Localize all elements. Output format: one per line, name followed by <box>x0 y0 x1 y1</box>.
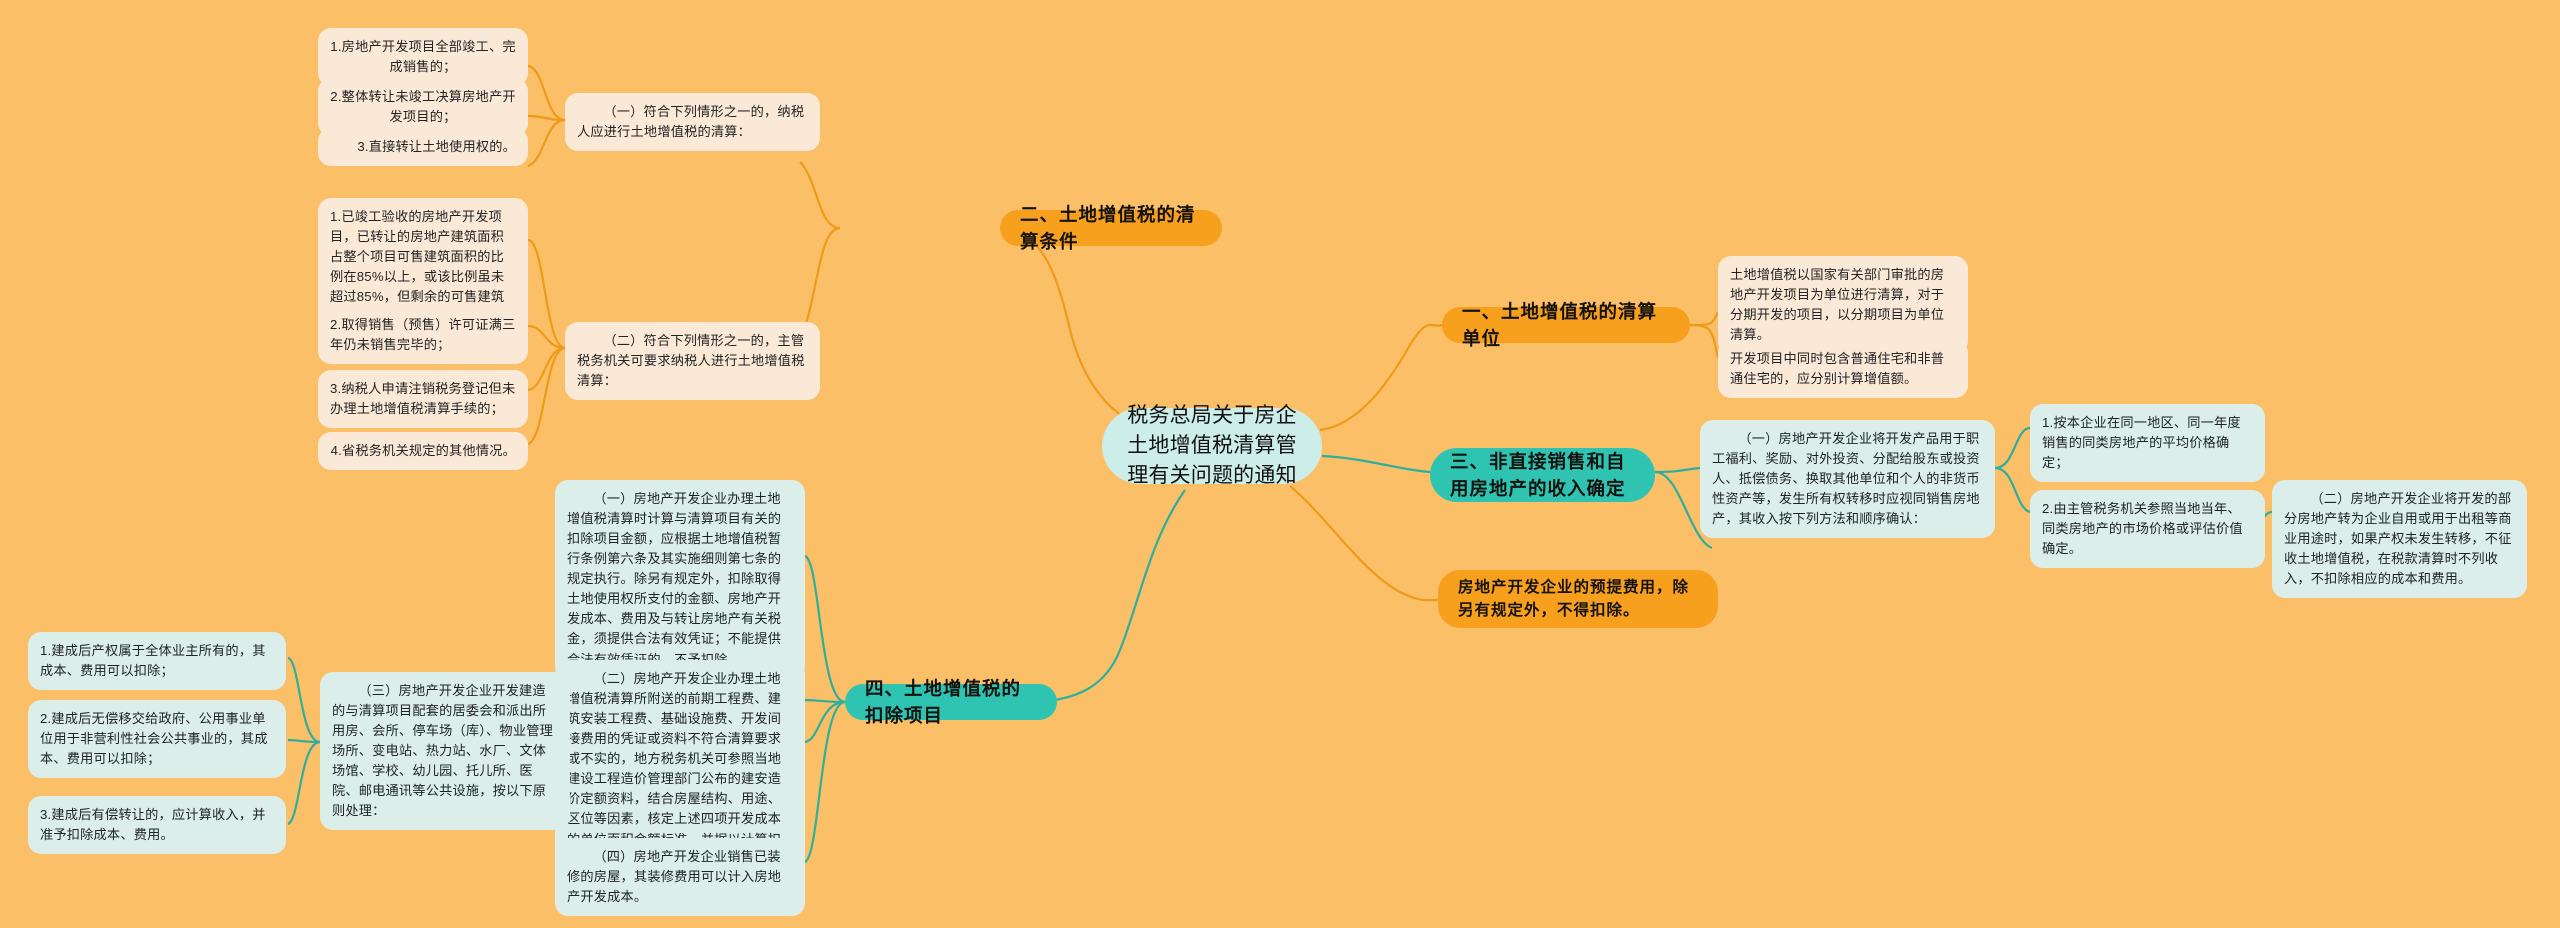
leaf-text: （三）房地产开发企业开发建造的与清算项目配套的居委会和派出所用房、会所、停车场（… <box>332 681 558 821</box>
group-head-b2-1[interactable]: （二）符合下列情形之一的，主管税务机关可要求纳税人进行土地增值税清算： <box>565 322 820 400</box>
leaf-text: 1.房地产开发项目全部竣工、完成销售的； <box>330 37 516 77</box>
leaf-b4-sub-1[interactable]: 2.建成后无偿移交给政府、公用事业单位用于非营利性社会公共事业的，其成本、费用可… <box>28 700 286 778</box>
leaf-text: 1.按本企业在同一地区、同一年度销售的同类房地产的平均价格确定； <box>2042 413 2253 473</box>
leaf-text: （一）符合下列情形之一的，纳税人应进行土地增值税的清算： <box>577 102 808 142</box>
leaf-text: 4.省税务机关规定的其他情况。 <box>331 441 516 461</box>
branch-1-label: 一、土地增值税的清算单位 <box>1462 298 1670 352</box>
leaf-b3-0-0[interactable]: 1.按本企业在同一地区、同一年度销售的同类房地产的平均价格确定； <box>2030 404 2265 482</box>
branch-4-label: 四、土地增值税的扣除项目 <box>865 675 1037 729</box>
leaf-text: 2.取得销售（预售）许可证满三年仍未销售完毕的； <box>330 315 516 355</box>
leaf-text: 开发项目中同时包含普通住宅和非普通住宅的，应分别计算增值额。 <box>1730 349 1956 389</box>
group-head-b2-0[interactable]: （一）符合下列情形之一的，纳税人应进行土地增值税的清算： <box>565 93 820 151</box>
group-head-b3-1[interactable]: （二）房地产开发企业将开发的部分房地产转为企业自用或用于出租等商业用途时，如果产… <box>2272 480 2527 598</box>
leaf-text: 3.建成后有偿转让的，应计算收入，并准予扣除成本、费用。 <box>40 805 274 845</box>
leaf-text: 2.建成后无偿移交给政府、公用事业单位用于非营利性社会公共事业的，其成本、费用可… <box>40 709 274 769</box>
leaf-b2-1-1[interactable]: 2.取得销售（预售）许可证满三年仍未销售完毕的； <box>318 306 528 364</box>
leaf-b3-0-1[interactable]: 2.由主管税务机关参照当地当年、同类房地产的市场价格或评估价值确定。 <box>2030 490 2265 568</box>
branch-3-label: 三、非直接销售和自用房地产的收入确定 <box>1450 448 1635 502</box>
leaf-text: 2.整体转让未竣工决算房地产开发项目的； <box>330 87 516 127</box>
branch-node-1[interactable]: 一、土地增值税的清算单位 <box>1442 307 1690 343</box>
leaf-b2-1-3[interactable]: 4.省税务机关规定的其他情况。 <box>318 432 528 470</box>
leaf-b4-0[interactable]: （一）房地产开发企业办理土地增值税清算时计算与清算项目有关的扣除项目金额，应根据… <box>555 480 805 679</box>
leaf-text: （二）符合下列情形之一的，主管税务机关可要求纳税人进行土地增值税清算： <box>577 331 808 391</box>
root-label: 税务总局关于房企土地增值税清算管理有关问题的通知 <box>1120 401 1304 490</box>
root-node[interactable]: 税务总局关于房企土地增值税清算管理有关问题的通知 <box>1102 408 1322 484</box>
leaf-text: 2.由主管税务机关参照当地当年、同类房地产的市场价格或评估价值确定。 <box>2042 499 2253 559</box>
branch-node-3[interactable]: 三、非直接销售和自用房地产的收入确定 <box>1430 448 1655 502</box>
leaf-text: （一）房地产开发企业办理土地增值税清算时计算与清算项目有关的扣除项目金额，应根据… <box>567 489 793 670</box>
leaf-b4-sub-2[interactable]: 3.建成后有偿转让的，应计算收入，并准予扣除成本、费用。 <box>28 796 286 854</box>
leaf-text: （一）房地产开发企业将开发产品用于职工福利、奖励、对外投资、分配给股东或投资人、… <box>1712 429 1983 529</box>
leaf-b4-sub-0[interactable]: 1.建成后产权属于全体业主所有的，其成本、费用可以扣除； <box>28 632 286 690</box>
mindmap-canvas: 税务总局关于房企土地增值税清算管理有关问题的通知 一、土地增值税的清算单位 土地… <box>0 0 2560 928</box>
leaf-text: （四）房地产开发企业销售已装修的房屋，其装修费用可以计入房地产开发成本。 <box>567 847 793 907</box>
leaf-text: 3.纳税人申请注销税务登记但未办理土地增值税清算手续的； <box>330 379 516 419</box>
leaf-text: 1.建成后产权属于全体业主所有的，其成本、费用可以扣除； <box>40 641 274 681</box>
branch-node-4[interactable]: 四、土地增值税的扣除项目 <box>845 684 1057 720</box>
leaf-text: 土地增值税以国家有关部门审批的房地产开发项目为单位进行清算，对于分期开发的项目，… <box>1730 265 1956 345</box>
branch-node-2[interactable]: 二、土地增值税的清算条件 <box>1000 210 1222 246</box>
leaf-b1-child-1[interactable]: 开发项目中同时包含普通住宅和非普通住宅的，应分别计算增值额。 <box>1718 340 1968 398</box>
leaf-b2-1-2[interactable]: 3.纳税人申请注销税务登记但未办理土地增值税清算手续的； <box>318 370 528 428</box>
branch-5-label: 房地产开发企业的预提费用，除另有规定外，不得扣除。 <box>1458 576 1698 623</box>
group-head-b3-0[interactable]: （一）房地产开发企业将开发产品用于职工福利、奖励、对外投资、分配给股东或投资人、… <box>1700 420 1995 538</box>
leaf-text: （二）房地产开发企业将开发的部分房地产转为企业自用或用于出租等商业用途时，如果产… <box>2284 489 2515 589</box>
leaf-b4-3[interactable]: （四）房地产开发企业销售已装修的房屋，其装修费用可以计入房地产开发成本。 <box>555 838 805 916</box>
leaf-text: 3.直接转让土地使用权的。 <box>357 137 516 157</box>
branch-node-5[interactable]: 房地产开发企业的预提费用，除另有规定外，不得扣除。 <box>1438 570 1718 628</box>
leaf-b2-0-2[interactable]: 3.直接转让土地使用权的。 <box>318 128 528 166</box>
branch-2-label: 二、土地增值税的清算条件 <box>1020 201 1202 255</box>
leaf-b4-2[interactable]: （三）房地产开发企业开发建造的与清算项目配套的居委会和派出所用房、会所、停车场（… <box>320 672 570 830</box>
